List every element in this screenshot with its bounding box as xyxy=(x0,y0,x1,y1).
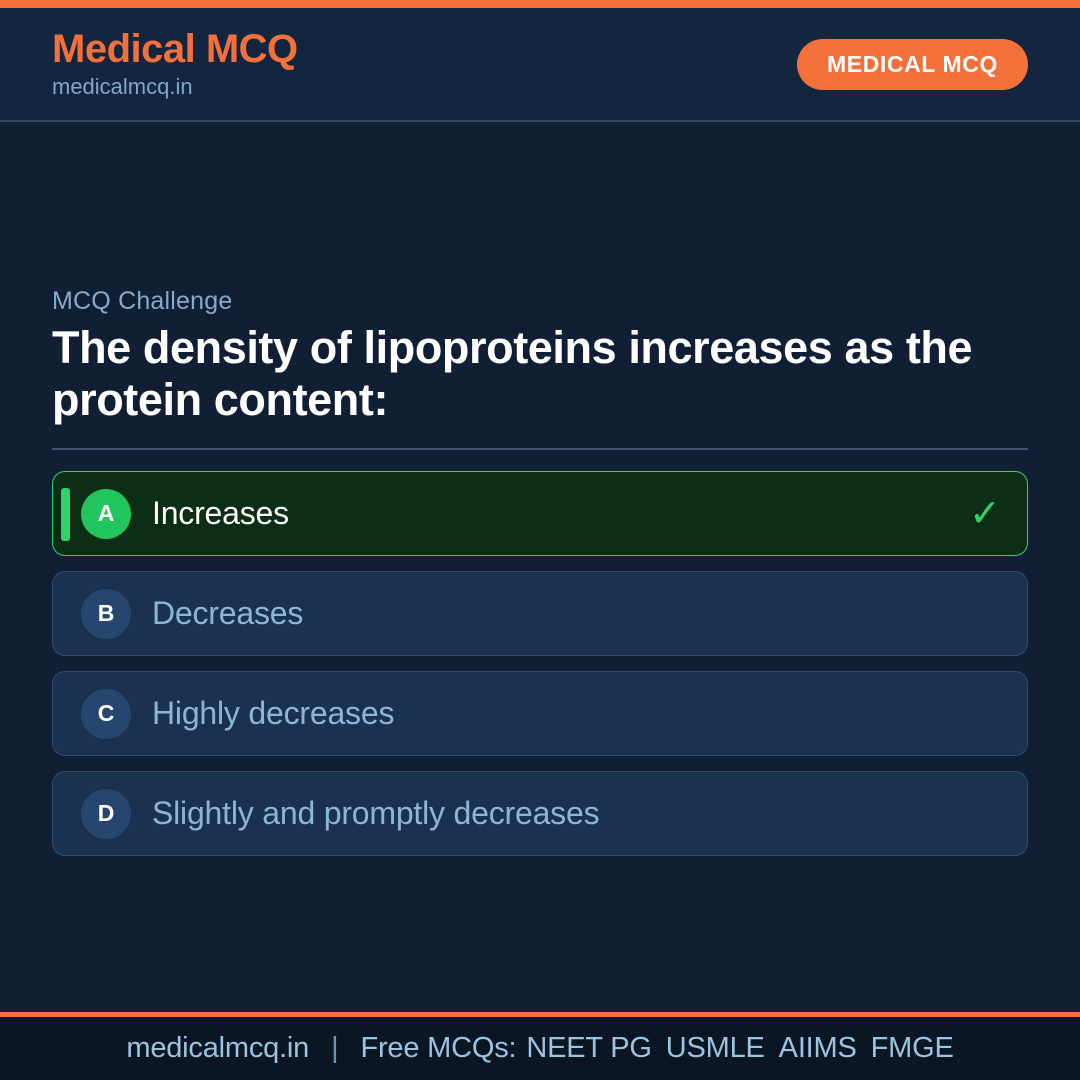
option-label: Highly decreases xyxy=(152,695,394,732)
footer-label: Free MCQs: xyxy=(360,1032,516,1065)
header-badge: MEDICAL MCQ xyxy=(797,39,1028,90)
brand-subtitle: medicalmcq.in xyxy=(52,73,298,101)
mcq-card: Medical MCQ medicalmcq.in MEDICAL MCQ MC… xyxy=(0,0,1080,1080)
option-letter-badge: B xyxy=(81,589,131,639)
check-icon: ✓ xyxy=(969,495,1001,533)
option-c[interactable]: C Highly decreases xyxy=(52,671,1028,756)
content-area: MCQ Challenge The density of lipoprotein… xyxy=(0,122,1080,1012)
question-divider xyxy=(52,448,1028,450)
header: Medical MCQ medicalmcq.in MEDICAL MCQ xyxy=(0,8,1080,122)
footer-exam-neet-pg[interactable]: NEET PG xyxy=(526,1032,651,1065)
footer-separator: | xyxy=(331,1032,338,1065)
option-label: Increases xyxy=(152,495,289,532)
brand-block: Medical MCQ medicalmcq.in xyxy=(52,28,298,101)
correct-accent-bar xyxy=(61,488,70,541)
option-d[interactable]: D Slightly and promptly decreases xyxy=(52,771,1028,856)
option-letter-badge: A xyxy=(81,489,131,539)
question-text: The density of lipoproteins increases as… xyxy=(52,322,1028,426)
footer-exam-aiims[interactable]: AIIMS xyxy=(779,1032,857,1065)
option-label: Slightly and promptly decreases xyxy=(152,795,599,832)
eyebrow-label: MCQ Challenge xyxy=(52,287,1028,316)
top-accent-bar xyxy=(0,0,1080,8)
footer-exam-usmle[interactable]: USMLE xyxy=(666,1032,765,1065)
footer-site-link[interactable]: medicalmcq.in xyxy=(126,1032,309,1065)
options-list: A Increases ✓ B Decreases C Highly decre… xyxy=(52,471,1028,856)
footer: medicalmcq.in | Free MCQs: NEET PG USMLE… xyxy=(0,1012,1080,1080)
footer-exam-fmge[interactable]: FMGE xyxy=(871,1032,954,1065)
brand-title: Medical MCQ xyxy=(52,28,298,71)
option-a[interactable]: A Increases ✓ xyxy=(52,471,1028,556)
question-zone: MCQ Challenge The density of lipoprotein… xyxy=(52,287,1028,471)
option-letter-badge: C xyxy=(81,689,131,739)
option-label: Decreases xyxy=(152,595,303,632)
option-letter-badge: D xyxy=(81,789,131,839)
footer-content: medicalmcq.in | Free MCQs: NEET PG USMLE… xyxy=(126,1032,953,1065)
option-b[interactable]: B Decreases xyxy=(52,571,1028,656)
